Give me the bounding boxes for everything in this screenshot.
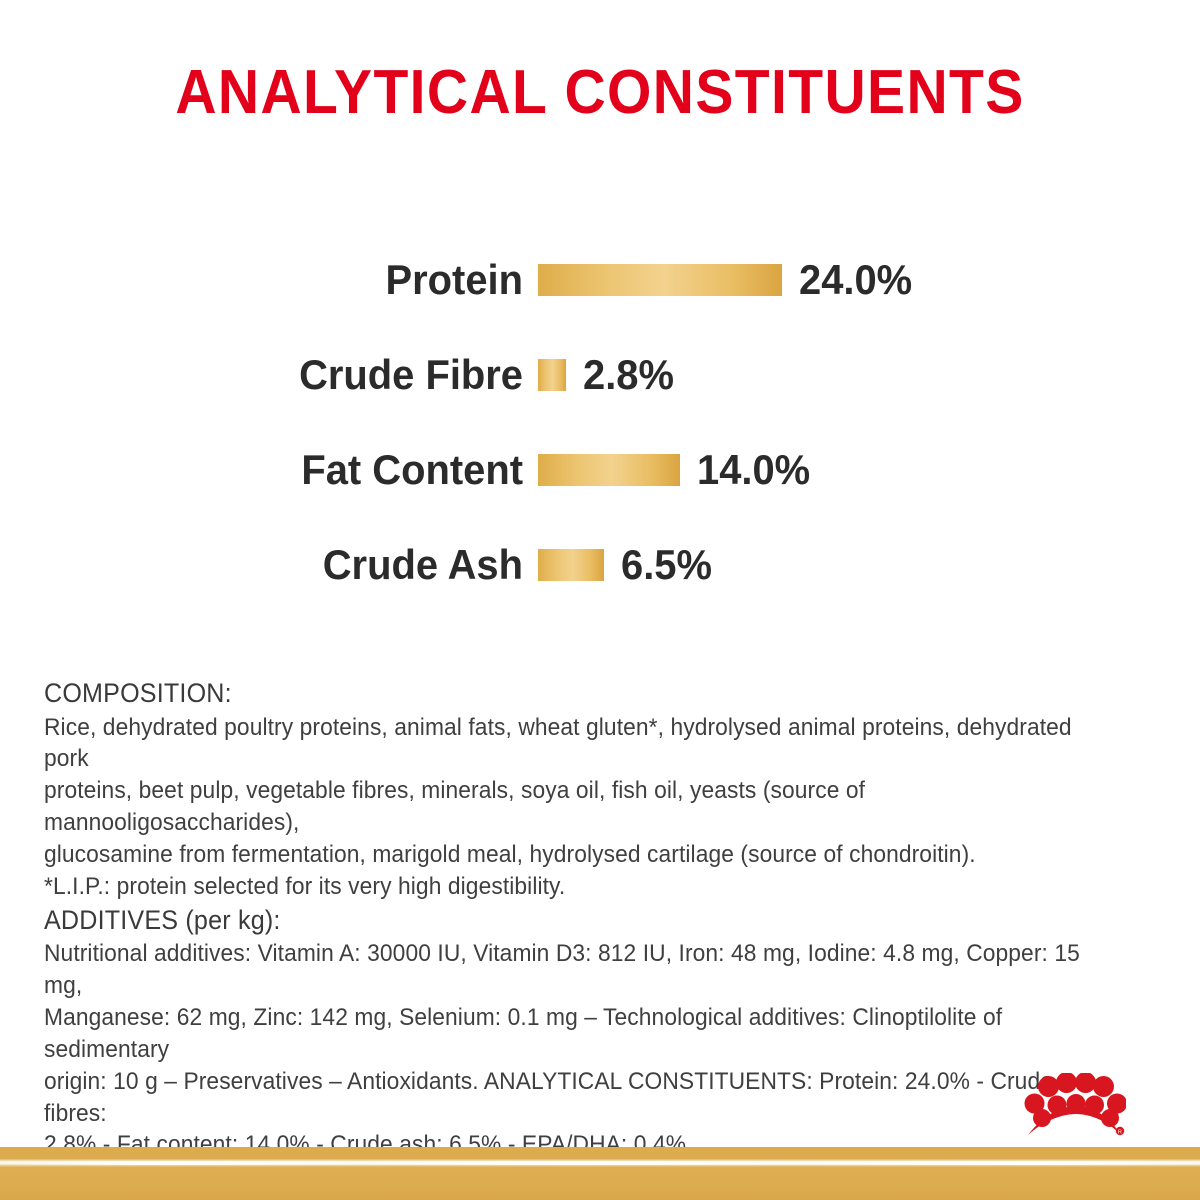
- chart-row-value: 2.8%: [583, 351, 674, 399]
- chart-row-label: Crude Fibre: [26, 351, 523, 399]
- page-title: ANALYTICAL CONSTITUENTS: [48, 62, 1152, 124]
- chart-row-label: Protein: [26, 256, 523, 304]
- additives-line: Nutritional additives: Vitamin A: 30000 …: [44, 938, 1086, 1002]
- analytical-constituents-chart: Protein 24.0% Crude Fibre 2.8% Fat Conte…: [0, 232, 1200, 612]
- composition-line: proteins, beet pulp, vegetable fibres, m…: [44, 775, 1086, 839]
- product-info-panel: ANALYTICAL CONSTITUENTS Protein 24.0% Cr…: [0, 0, 1200, 1200]
- chart-bar-wrapper: 24.0%: [538, 256, 918, 304]
- composition-heading: COMPOSITION:: [44, 676, 1086, 712]
- svg-text:R: R: [1118, 1130, 1122, 1136]
- chart-row-value: 24.0%: [799, 256, 912, 304]
- chart-bar: [538, 454, 680, 486]
- chart-row: Protein 24.0%: [0, 232, 1200, 327]
- chart-row: Crude Fibre 2.8%: [0, 327, 1200, 422]
- chart-row-label: Fat Content: [26, 446, 523, 494]
- chart-bar: [538, 359, 566, 391]
- royal-canin-crown-icon: R: [1022, 1073, 1126, 1141]
- chart-bar-wrapper: 6.5%: [538, 541, 717, 589]
- chart-row: Crude Ash 6.5%: [0, 517, 1200, 612]
- additives-line: origin: 10 g – Preservatives – Antioxida…: [44, 1066, 1086, 1130]
- chart-bar-wrapper: 14.0%: [538, 446, 816, 494]
- additives-line: Manganese: 62 mg, Zinc: 142 mg, Selenium…: [44, 1002, 1086, 1066]
- chart-bar: [538, 549, 604, 581]
- chart-row: Fat Content 14.0%: [0, 422, 1200, 517]
- chart-row-value: 14.0%: [697, 446, 810, 494]
- chart-row-label: Crude Ash: [26, 541, 523, 589]
- ingredients-text-block: COMPOSITION: Rice, dehydrated poultry pr…: [44, 676, 1086, 1161]
- composition-line: glucosamine from fermentation, marigold …: [44, 839, 1086, 871]
- footer-gold-band: [0, 1147, 1200, 1200]
- chart-bar-wrapper: 2.8%: [538, 351, 679, 399]
- composition-lip-note: *L.I.P.: protein selected for its very h…: [44, 871, 1086, 903]
- gold-band-shimmer: [0, 1161, 1200, 1165]
- additives-heading: ADDITIVES (per kg):: [44, 903, 1086, 939]
- chart-bar: [538, 264, 782, 296]
- composition-line: Rice, dehydrated poultry proteins, anima…: [44, 712, 1086, 776]
- chart-row-value: 6.5%: [621, 541, 712, 589]
